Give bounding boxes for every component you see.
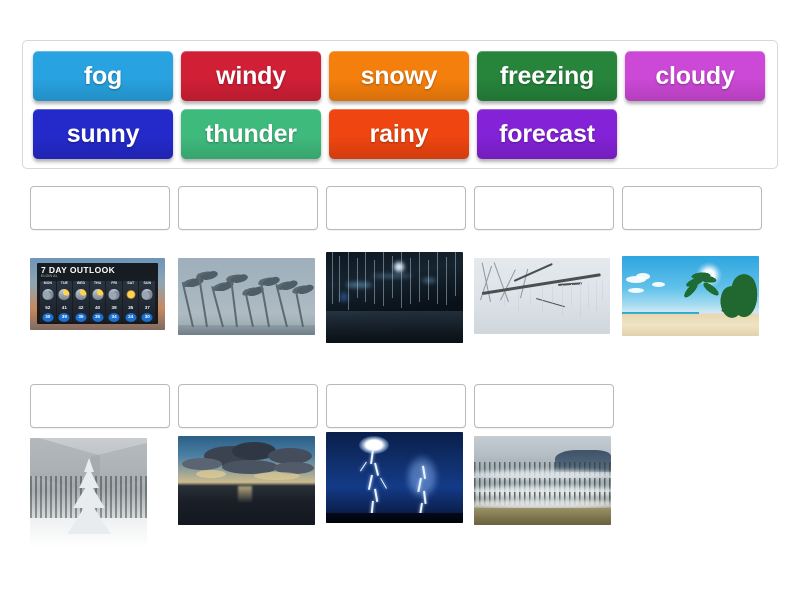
image-cell-1-5 [622, 252, 770, 362]
forecast-day: SUN 37 30 [139, 281, 155, 322]
image-row-2 [30, 432, 782, 557]
word-tile-fog[interactable]: fog [33, 51, 173, 101]
drop-zone-1-1[interactable] [30, 186, 170, 230]
image-cell-2-1 [30, 432, 178, 557]
image-cell-1-3 [326, 252, 474, 362]
lightning-storm-photo [326, 432, 463, 523]
image-row-1: 7 DAY OUTLOOK ELGIN AL MON 52 30 TUE 41 [30, 252, 782, 362]
drop-zone-2-4[interactable] [474, 384, 614, 428]
cloudy-sunset-sea-photo [178, 436, 315, 525]
image-cell-2-3 [326, 432, 474, 557]
forecast-day-strip: MON 52 30 TUE 41 39 WED [40, 281, 155, 322]
forecast-panel: 7 DAY OUTLOOK ELGIN AL MON 52 30 TUE 41 [37, 263, 158, 324]
drop-zone-2-2[interactable] [178, 384, 318, 428]
image-cell-2-2 [178, 432, 326, 557]
drop-zone-1-5[interactable] [622, 186, 762, 230]
drop-zone-1-4[interactable] [474, 186, 614, 230]
forecast-day: WED 42 35 [73, 281, 89, 322]
cloud-icon [109, 289, 120, 300]
word-tile-tray: fog windy snowy freezing cloudy sunny th… [22, 40, 778, 169]
forecast-day: FRI 38 34 [106, 281, 122, 322]
drop-zone-1-2[interactable] [178, 186, 318, 230]
activity-stage: fog windy snowy freezing cloudy sunny th… [0, 0, 800, 600]
word-tile-thunder[interactable]: thunder [181, 109, 321, 159]
drop-zone-row-2 [30, 384, 782, 428]
word-tile-rainy[interactable]: rainy [329, 109, 469, 159]
cloud-icon [42, 289, 53, 300]
drop-zone-2-3[interactable] [326, 384, 466, 428]
sun-icon [125, 289, 136, 300]
foggy-forest-photo [474, 436, 611, 525]
rainy-city-street-photo [326, 252, 463, 343]
word-tile-windy[interactable]: windy [181, 51, 321, 101]
forecast-day: TUE 41 39 [57, 281, 73, 322]
word-tile-snowy[interactable]: snowy [329, 51, 469, 101]
partly-sunny-icon [75, 289, 86, 300]
windy-palm-trees-photo [178, 258, 315, 335]
snowy-pine-tree-photo [30, 438, 147, 548]
lightning-flash [359, 436, 389, 454]
word-tile-cloudy[interactable]: cloudy [625, 51, 765, 101]
partly-sunny-icon [92, 289, 103, 300]
forecast-subtitle: ELGIN AL [41, 275, 58, 278]
drop-zone-row-1 [30, 186, 782, 230]
drop-zone-2-1[interactable] [30, 384, 170, 428]
partly-sunny-icon [59, 289, 70, 300]
cloud-icon [142, 289, 153, 300]
image-cell-2-4 [474, 432, 622, 557]
image-cell-1-4 [474, 252, 622, 362]
forecast-day: THU 40 35 [90, 281, 106, 322]
drop-zone-1-3[interactable] [326, 186, 466, 230]
word-tile-sunny[interactable]: sunny [33, 109, 173, 159]
icy-branch-photo [474, 258, 610, 334]
forecast-day: SAT 35 24 [123, 281, 139, 322]
forecast-day: MON 52 30 [40, 281, 56, 322]
seven-day-forecast-graphic: 7 DAY OUTLOOK ELGIN AL MON 52 30 TUE 41 [30, 258, 165, 330]
sunny-beach-photo [622, 256, 759, 336]
image-cell-1-1: 7 DAY OUTLOOK ELGIN AL MON 52 30 TUE 41 [30, 252, 178, 362]
image-cell-1-2 [178, 252, 326, 362]
word-tile-freezing[interactable]: freezing [477, 51, 617, 101]
word-tile-forecast[interactable]: forecast [477, 109, 617, 159]
